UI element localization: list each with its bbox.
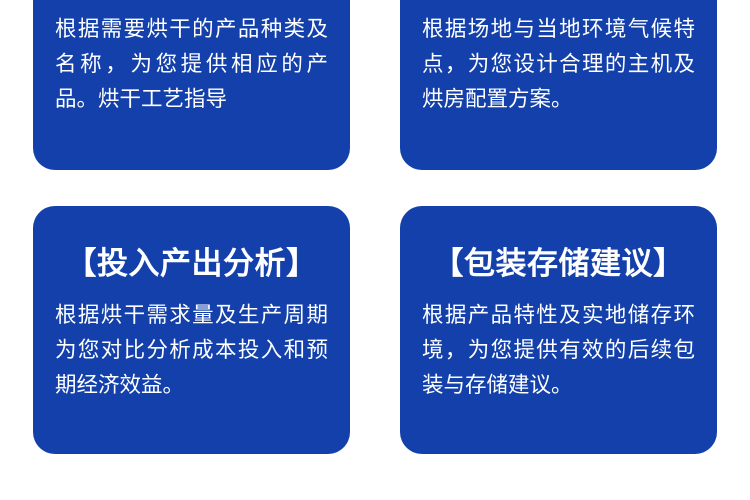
card-packaging-storage-advice: 【包装存储建议】 根据产品特性及实地储存环境，为您提供有效的后续包装与存储建议。 bbox=[400, 206, 717, 454]
card-equipment-configuration: 【机型与烘房配置】 根据场地与当地环境气候特点，为您设计合理的主机及烘房配置方案… bbox=[400, 0, 717, 170]
page-root: 【产品种类确认】 根据需要烘干的产品种类及名称，为您提供相应的产品。烘干工艺指导… bbox=[0, 0, 750, 500]
card-body: 根据场地与当地环境气候特点，为您设计合理的主机及烘房配置方案。 bbox=[422, 12, 695, 117]
card-body: 根据需要烘干的产品种类及名称，为您提供相应的产品。烘干工艺指导 bbox=[55, 12, 328, 117]
card-body: 根据产品特性及实地储存环境，为您提供有效的后续包装与存储建议。 bbox=[422, 298, 695, 403]
card-input-output-analysis: 【投入产出分析】 根据烘干需求量及生产周期为您对比分析成本投入和预期经济效益。 bbox=[33, 206, 350, 454]
card-title: 【包装存储建议】 bbox=[422, 244, 695, 284]
card-title: 【投入产出分析】 bbox=[55, 244, 328, 284]
card-product-type-advice: 【产品种类确认】 根据需要烘干的产品种类及名称，为您提供相应的产品。烘干工艺指导 bbox=[33, 0, 350, 170]
card-body: 根据烘干需求量及生产周期为您对比分析成本投入和预期经济效益。 bbox=[55, 298, 328, 403]
